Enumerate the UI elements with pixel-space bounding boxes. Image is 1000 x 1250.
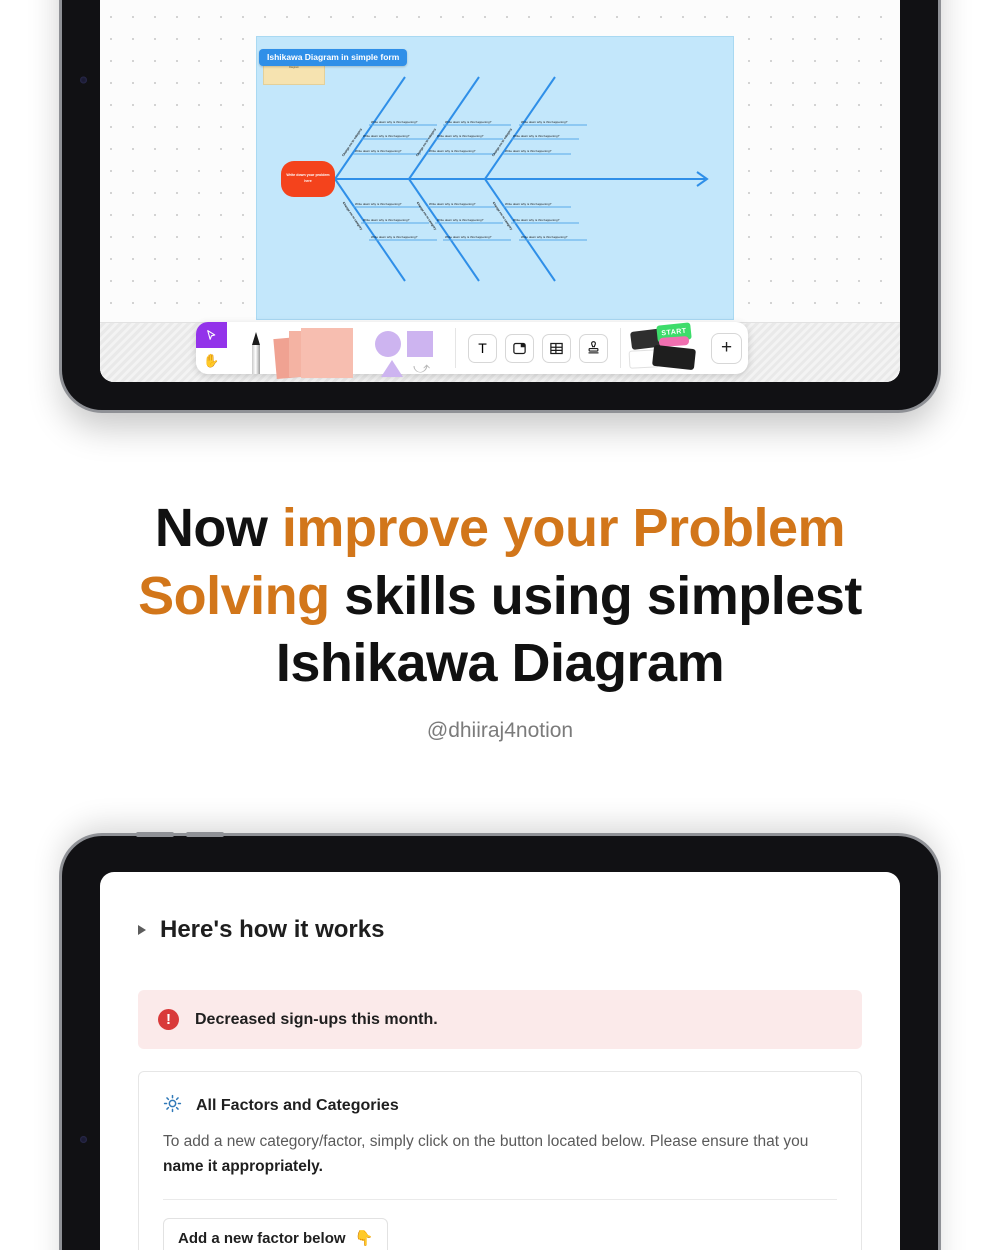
branch-prompt[interactable]: Write down why is this happening?: [445, 120, 491, 124]
alert-callout[interactable]: ! Decreased sign-ups this month.: [138, 990, 862, 1049]
alert-text: Decreased sign-ups this month.: [195, 1011, 438, 1029]
branch-prompt[interactable]: Write down why is this happening?: [355, 202, 401, 206]
whiteboard-toolbar: ✋ ⤻ T: [196, 322, 748, 374]
cursor-tool-icon[interactable]: [196, 322, 227, 348]
branch-prompt[interactable]: Write down why is this happening?: [513, 134, 559, 138]
branch-prompt[interactable]: Write down why is this happening?: [513, 218, 559, 222]
headline-line1-black: Now: [155, 498, 282, 558]
tablet-screen-top: Ishikawa Diagram is also known as Fishbo…: [100, 0, 900, 382]
text-tool-icon[interactable]: T: [468, 334, 497, 363]
branch-prompt[interactable]: Write down why is this happening?: [521, 120, 567, 124]
headline-line2-orange: Solving: [138, 566, 330, 626]
branch-prompt[interactable]: Write down why is this happening?: [429, 149, 475, 153]
add-factor-label: Add a new factor below: [178, 1230, 346, 1247]
card-header: All Factors and Categories: [163, 1094, 837, 1118]
card-title: All Factors and Categories: [196, 1097, 399, 1115]
factors-card: All Factors and Categories To add a new …: [138, 1071, 862, 1250]
branch-prompt[interactable]: Write down why is this happening?: [505, 202, 551, 206]
branch-prompt[interactable]: Write down why is this happening?: [363, 218, 409, 222]
table-tool-icon[interactable]: [542, 334, 571, 363]
camera-dot-icon: [80, 1136, 87, 1143]
card-body-text: To add a new category/factor, simply cli…: [163, 1133, 808, 1150]
page-title: Now improve your Problem Solving skills …: [0, 495, 1000, 698]
card-divider: [163, 1199, 837, 1200]
tablet-screen-bottom: Here's how it works ! Decreased sign-ups…: [100, 872, 900, 1250]
hand-tool-icon[interactable]: ✋: [196, 348, 227, 374]
tablet-device-top: Ishikawa Diagram is also known as Fishbo…: [62, 0, 938, 410]
branch-prompt[interactable]: Write down why is this happening?: [437, 218, 483, 222]
add-factor-button[interactable]: Add a new factor below 👇: [163, 1218, 388, 1250]
toolbar-tray: ✋ ⤻ T: [100, 322, 900, 382]
pen-tool-icon[interactable]: [243, 322, 269, 374]
board-title-badge[interactable]: Ishikawa Diagram in simple form: [259, 49, 407, 66]
card-body: To add a new category/factor, simply cli…: [163, 1129, 823, 1179]
pointing-down-icon: 👇: [355, 1229, 374, 1247]
branch-prompt[interactable]: Write down why is this happening?: [371, 235, 417, 239]
volume-up-button[interactable]: [136, 832, 174, 837]
stamp-tool-icon[interactable]: [579, 334, 608, 363]
notion-document: Here's how it works ! Decreased sign-ups…: [100, 872, 900, 1250]
branch-prompt[interactable]: Write down why is this happening?: [371, 120, 417, 124]
headline-line1-orange: improve your Problem: [282, 498, 845, 558]
add-item-button[interactable]: +: [711, 333, 742, 364]
branch-prompt[interactable]: Write down why is this happening?: [505, 149, 551, 153]
sticky-note-tool-icon[interactable]: [271, 322, 369, 374]
headline-line2-black: skills using simplest: [330, 566, 862, 626]
stickers-group: START +: [623, 322, 748, 374]
branch-prompt[interactable]: Write down why is this happening?: [429, 202, 475, 206]
brightness-icon: [163, 1094, 182, 1118]
ishikawa-board[interactable]: Ishikawa Diagram is also known as Fishbo…: [256, 36, 734, 320]
card-body-bold: name it appropriately.: [163, 1158, 323, 1175]
toggle-heading-label: Here's how it works: [160, 916, 384, 944]
exclamation-icon: !: [158, 1009, 179, 1030]
toggle-heading[interactable]: Here's how it works: [138, 916, 862, 944]
problem-node[interactable]: Write down your problem here: [281, 161, 335, 197]
branch-prompt[interactable]: Write down why is this happening?: [521, 235, 567, 239]
sticker-gallery-icon[interactable]: START: [629, 322, 705, 374]
camera-dot-icon: [80, 77, 87, 84]
author-handle: @dhiiraj4notion: [0, 719, 1000, 743]
chevron-right-icon[interactable]: [138, 925, 146, 935]
text-tool-label: T: [478, 340, 487, 356]
branch-prompt[interactable]: Write down why is this happening?: [363, 134, 409, 138]
headline-line3: Ishikawa Diagram: [276, 633, 724, 693]
page-root: Ishikawa Diagram is also known as Fishbo…: [0, 0, 1000, 1250]
branch-prompt[interactable]: Write down why is this happening?: [445, 235, 491, 239]
selection-tool-group: ✋: [196, 322, 227, 374]
shapes-tool-icon[interactable]: ⤻: [369, 322, 447, 374]
toolbar-divider: [455, 328, 456, 368]
draw-tools-group: ⤻: [227, 322, 453, 374]
volume-down-button[interactable]: [186, 832, 224, 837]
insert-tools-group: T: [458, 322, 618, 374]
branch-prompt[interactable]: Write down why is this happening?: [355, 149, 401, 153]
media-tool-icon[interactable]: [505, 334, 534, 363]
tablet-device-bottom: Here's how it works ! Decreased sign-ups…: [62, 836, 938, 1250]
toolbar-divider: [620, 328, 621, 368]
branch-prompt[interactable]: Write down why is this happening?: [437, 134, 483, 138]
